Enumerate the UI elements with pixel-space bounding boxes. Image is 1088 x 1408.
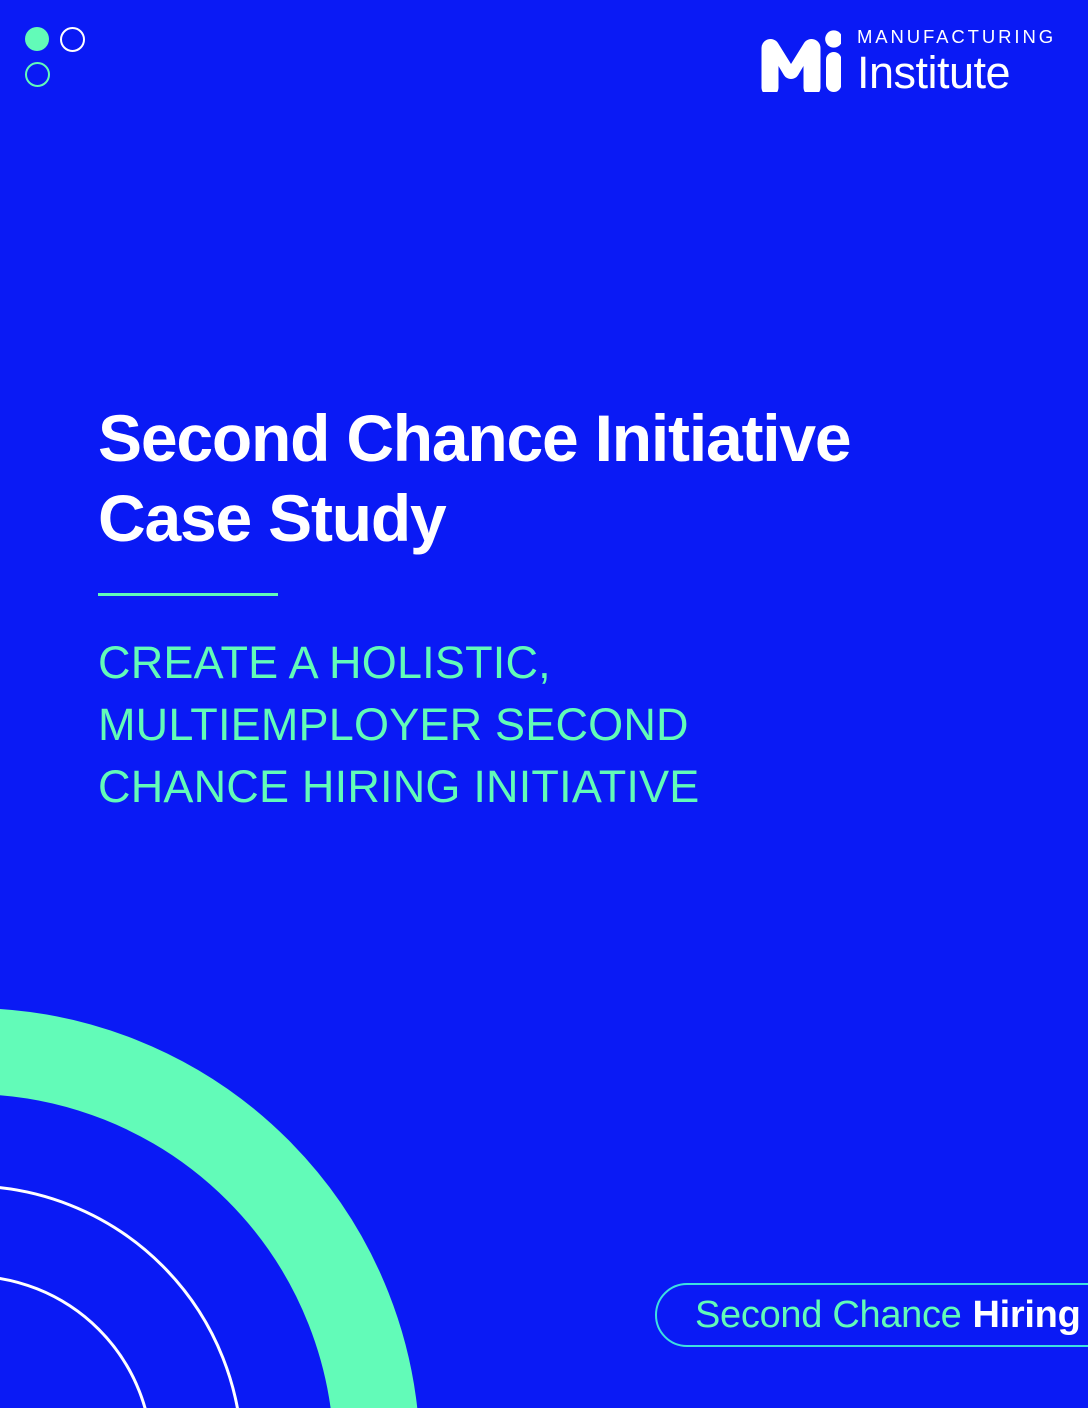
cover-content: Second Chance Initiative Case Study CREA… [98, 398, 978, 818]
decorative-arc-graphic [0, 988, 700, 1408]
title-divider [98, 593, 278, 596]
badge-text-primary: Second Chance [695, 1294, 962, 1337]
arc-white-outer [0, 1186, 242, 1408]
mi-monogram-icon [753, 30, 841, 92]
brand-logo: MANUFACTURING Institute [753, 28, 1056, 95]
dot-filled-mint-icon [25, 27, 49, 51]
cover-page: MANUFACTURING Institute Second Chance In… [0, 0, 1088, 1408]
brand-wordmark: MANUFACTURING Institute [857, 28, 1056, 95]
badge-text-emphasis: Hiring [973, 1294, 1081, 1337]
dot-outline-white-icon [60, 27, 85, 52]
page-title: Second Chance Initiative Case Study [98, 398, 978, 558]
second-chance-hiring-badge[interactable]: Second Chance Hiring [655, 1283, 1088, 1347]
arc-mint-band [0, 1051, 377, 1408]
arc-white-inner [0, 1276, 152, 1408]
decorative-dots-group [0, 0, 140, 140]
dot-outline-mint-icon [25, 62, 50, 87]
page-subtitle: CREATE A HOLISTIC, MULTIEMPLOYER SECOND … [98, 632, 978, 818]
brand-word-manufacturing: MANUFACTURING [857, 28, 1056, 47]
brand-word-institute: Institute [857, 50, 1056, 95]
